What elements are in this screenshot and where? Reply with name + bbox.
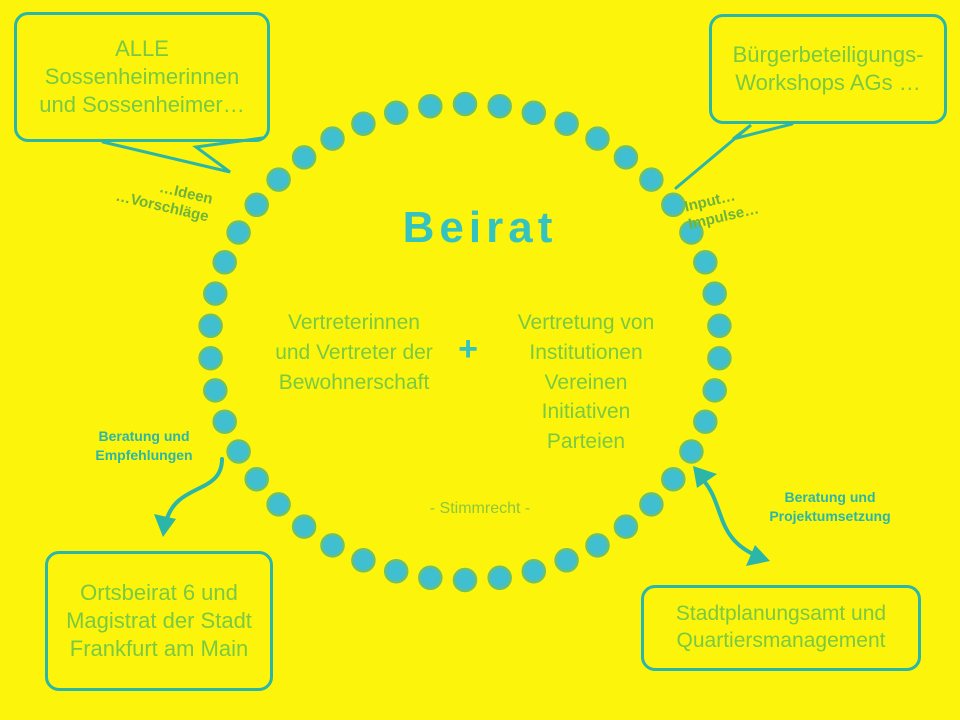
arrow-head-up-left	[693, 466, 717, 488]
arrow-head-down-right	[746, 545, 770, 566]
ring-dot	[523, 102, 545, 124]
plus-icon: +	[447, 330, 489, 369]
ring-dot	[680, 441, 702, 463]
ring-dot	[708, 347, 730, 369]
ring-dot	[200, 315, 222, 337]
ring-dot	[352, 549, 374, 571]
ring-dot	[454, 569, 476, 591]
callout-tail-top-right	[676, 124, 792, 188]
ring-dot	[200, 347, 222, 369]
ring-dot	[704, 379, 726, 401]
ring-dot	[204, 283, 226, 305]
ring-dot	[489, 567, 511, 589]
box-ortsbeirat-label: Ortsbeirat 6 und Magistrat der Stadt Fra…	[58, 579, 260, 663]
ring-dot	[523, 560, 545, 582]
ring-dot	[228, 441, 250, 463]
ring-dot	[246, 468, 268, 490]
ring-dot	[352, 113, 374, 135]
box-ortsbeirat: Ortsbeirat 6 und Magistrat der Stadt Fra…	[45, 551, 273, 691]
ring-dot	[662, 468, 684, 490]
ring-dot	[204, 379, 226, 401]
callout-workshops-label: Bürgerbeteiligungs- Workshops AGs …	[722, 41, 934, 97]
column-bewohnerschaft: Vertreterinnen und Vertreter der Bewohne…	[268, 308, 440, 397]
ring-dot	[694, 411, 716, 433]
ring-dot	[489, 95, 511, 117]
ring-dot	[293, 146, 315, 168]
callout-alle-sossenheimer: ALLE Sossenheimerinnen und Sossenheimer…	[14, 12, 270, 142]
ring-dot	[385, 560, 407, 582]
ring-dot	[293, 516, 315, 538]
column-institutionen: Vertretung von Institutionen Vereinen In…	[500, 308, 672, 457]
ring-dot	[454, 93, 476, 115]
ring-dot	[615, 516, 637, 538]
ring-dot	[708, 315, 730, 337]
ring-dot	[640, 169, 662, 191]
box-stadtplanungsamt-label: Stadtplanungsamt und Quartiersmanagement	[654, 601, 908, 655]
callout-tail-top-left	[103, 138, 262, 172]
annotation-beratung-rechts-line2: Projektumsetzung	[740, 507, 920, 526]
ring-dot	[322, 128, 344, 150]
ring-dot	[694, 251, 716, 273]
box-stadtplanungsamt: Stadtplanungsamt und Quartiersmanagement	[641, 585, 921, 671]
ring-dot	[556, 113, 578, 135]
ring-dot	[214, 251, 236, 273]
ring-dot	[214, 411, 236, 433]
diagram-canvas: Beirat Vertreterinnen und Vertreter der …	[0, 0, 960, 720]
ring-dot	[268, 169, 290, 191]
ring-dot	[704, 283, 726, 305]
annotation-beratung-links-line2: Empfehlungen	[74, 446, 214, 465]
callout-buergerbeteiligung: Bürgerbeteiligungs- Workshops AGs …	[709, 14, 947, 124]
ring-dot	[419, 95, 441, 117]
ring-dot	[587, 534, 609, 556]
annotation-beratung-rechts-line1: Beratung und	[740, 488, 920, 507]
callout-alle-label: ALLE Sossenheimerinnen und Sossenheimer…	[27, 35, 257, 119]
ring-dot	[615, 146, 637, 168]
annotation-beratung-empfehlungen: Beratung und Empfehlungen	[74, 427, 214, 465]
annotation-beratung-links-line1: Beratung und	[74, 427, 214, 446]
ring-dot	[385, 102, 407, 124]
ring-dot	[419, 567, 441, 589]
ring-dot	[322, 534, 344, 556]
ring-dot	[556, 549, 578, 571]
annotation-beratung-projektumsetzung: Beratung und Projektumsetzung	[740, 488, 920, 526]
ring-dot	[587, 128, 609, 150]
